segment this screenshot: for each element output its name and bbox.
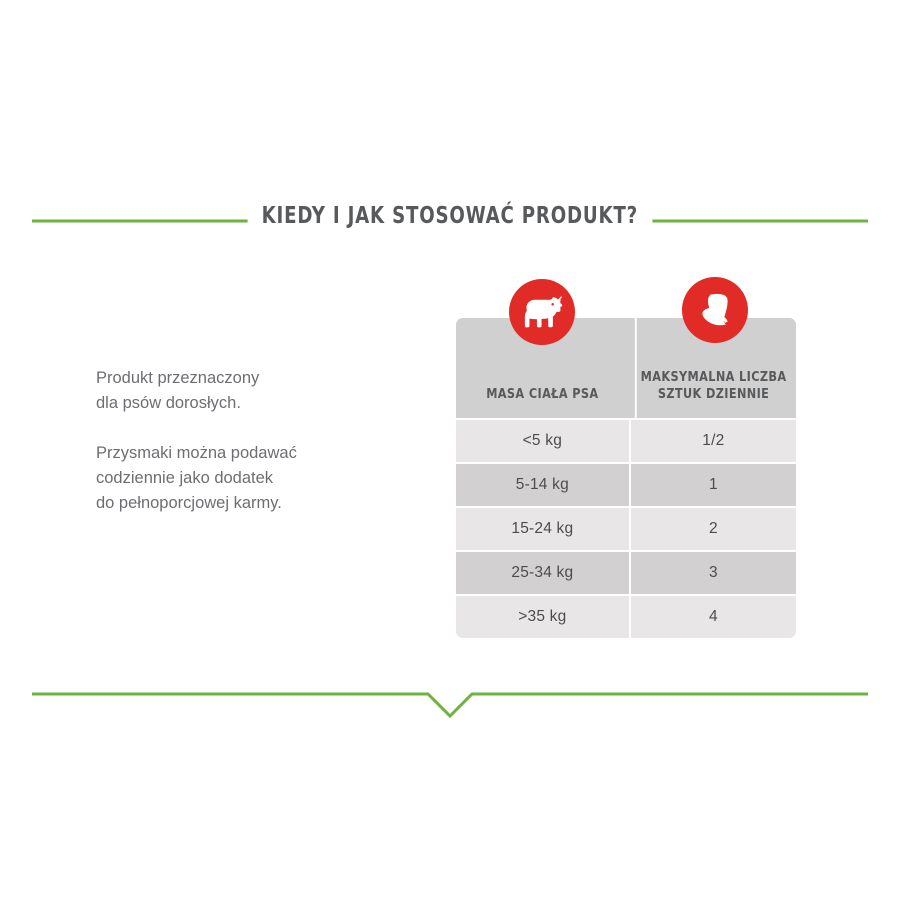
description-block: Produkt przeznaczony dla psów dorosłych.… <box>96 366 386 516</box>
dog-silhouette-glyph <box>520 295 564 329</box>
cell-pieces: 4 <box>629 596 796 638</box>
cell-weight: >35 kg <box>456 596 629 638</box>
table-row: 5-14 kg 1 <box>456 462 796 506</box>
cell-weight: 15-24 kg <box>456 508 629 550</box>
page-title: KIEDY I JAK STOSOWAĆ PRODUKT? <box>248 203 652 229</box>
cell-pieces: 3 <box>629 552 796 594</box>
cell-weight: <5 kg <box>456 420 629 462</box>
dog-icon <box>509 279 575 345</box>
table-row: 25-34 kg 3 <box>456 550 796 594</box>
table-header-pieces-line-2: SZTUK DZIENNIE <box>640 386 786 403</box>
treat-icon <box>682 277 748 343</box>
cell-pieces: 1/2 <box>629 420 796 462</box>
cell-pieces: 1 <box>629 464 796 506</box>
table-row: >35 kg 4 <box>456 594 796 638</box>
table-header-row: MASA CIAŁA PSA MAKSYMALNA LICZBA SZTUK D… <box>456 318 796 418</box>
table-header-weight-line-1: MASA CIAŁA PSA <box>486 386 598 403</box>
table-body: <5 kg 1/2 5-14 kg 1 15-24 kg 2 25-34 kg … <box>456 418 796 638</box>
cell-weight: 25-34 kg <box>456 552 629 594</box>
cell-weight: 5-14 kg <box>456 464 629 506</box>
cell-pieces: 2 <box>629 508 796 550</box>
page-title-container: KIEDY I JAK STOSOWAĆ PRODUKT? <box>0 203 900 229</box>
description-paragraph-1: Produkt przeznaczony dla psów dorosłych. <box>96 366 386 416</box>
table-row: <5 kg 1/2 <box>456 418 796 462</box>
dog-treat-glyph <box>699 293 732 328</box>
description-paragraph-2: Przysmaki można podawać codziennie jako … <box>96 441 386 516</box>
table-header-pieces-line-1: MAKSYMALNA LICZBA <box>640 369 786 386</box>
infographic-panel: KIEDY I JAK STOSOWAĆ PRODUKT? Produkt pr… <box>0 0 900 900</box>
feeding-guide-table: MASA CIAŁA PSA MAKSYMALNA LICZBA SZTUK D… <box>456 318 796 638</box>
table-row: 15-24 kg 2 <box>456 506 796 550</box>
